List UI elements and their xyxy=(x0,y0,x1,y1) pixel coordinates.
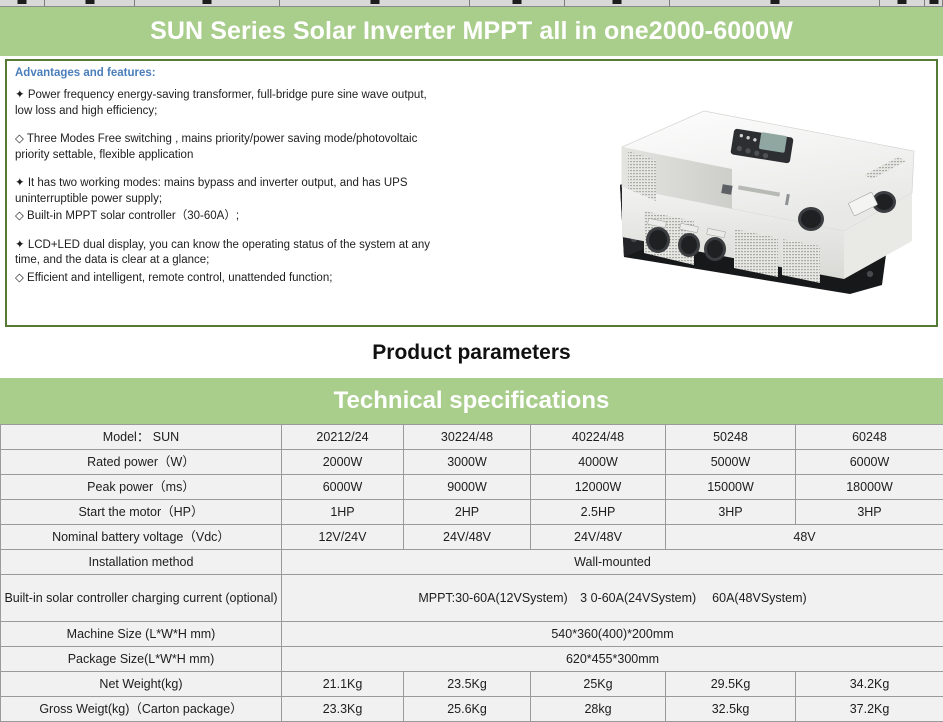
advantages-heading: Advantages and features: xyxy=(15,67,435,79)
spec-cell: 3HP xyxy=(796,500,943,525)
spec-row-label: Net Weight(kg) xyxy=(1,672,282,697)
technical-specifications-banner: Technical specifications xyxy=(0,378,943,424)
advantages-list: Advantages and features: ✦ Power frequen… xyxy=(15,67,435,292)
spec-row-label: Rated power（W） xyxy=(1,450,282,475)
spec-cell: 28kg xyxy=(531,697,666,722)
spec-cell: 2.5HP xyxy=(531,500,666,525)
cutoff-table-strip xyxy=(0,0,943,7)
technical-specifications-title: Technical specifications xyxy=(334,387,610,415)
spec-cell: 2000W xyxy=(282,450,404,475)
spec-cell: 9000W xyxy=(404,475,531,500)
spec-cell: 12V/24V xyxy=(282,525,404,550)
product-title-banner: SUN Series Solar Inverter MPPT all in on… xyxy=(0,7,943,56)
feature-item-5: ✦ LCD+LED dual display, you can know the… xyxy=(15,238,435,269)
spec-cell: 20212/24 xyxy=(282,425,404,450)
cutoff-cell xyxy=(925,0,943,6)
spec-cell: 60248 xyxy=(796,425,943,450)
feature-item-1: ✦ Power frequency energy-saving transfor… xyxy=(15,88,435,119)
table-row: Built-in solar controller charging curre… xyxy=(1,575,943,622)
page-title: SUN Series Solar Inverter MPPT all in on… xyxy=(150,17,793,46)
spec-row-label: Peak power（ms） xyxy=(1,475,282,500)
spec-cell: 18000W xyxy=(796,475,943,500)
spec-cell: 25.6Kg xyxy=(404,697,531,722)
spec-row-label: Installation method xyxy=(1,550,282,575)
cutoff-cell xyxy=(470,0,565,6)
cutoff-cell xyxy=(0,0,45,6)
spec-row-label: Start the motor（HP） xyxy=(1,500,282,525)
spec-cell: MPPT:30-60A(12VSystem) 3 0-60A(24VSystem… xyxy=(282,575,943,622)
spec-cell: 23.5Kg xyxy=(404,672,531,697)
spec-row-label: Package Size(L*W*H mm) xyxy=(1,647,282,672)
spec-cell: 40224/48 xyxy=(531,425,666,450)
spec-row-label: Gross Weigt(kg)（Carton package） xyxy=(1,697,282,722)
spec-cell: 620*455*300mm xyxy=(282,647,943,672)
spec-row-label: Model： SUN xyxy=(1,425,282,450)
table-row: Peak power（ms）6000W9000W12000W15000W1800… xyxy=(1,475,943,500)
product-parameters-heading: Product parameters xyxy=(0,341,943,365)
spec-cell: 5000W xyxy=(666,450,796,475)
spec-cell: 2HP xyxy=(404,500,531,525)
spec-cell: 23.3Kg xyxy=(282,697,404,722)
cutoff-cell xyxy=(670,0,880,6)
spec-cell: 3000W xyxy=(404,450,531,475)
table-row: Start the motor（HP）1HP2HP2.5HP3HP3HP xyxy=(1,500,943,525)
feature-item-3: ✦ It has two working modes: mains bypass… xyxy=(15,176,435,207)
spec-cell: 48V xyxy=(666,525,943,550)
cutoff-cell xyxy=(135,0,280,6)
cutoff-cell xyxy=(880,0,925,6)
table-row: Installation methodWall-mounted xyxy=(1,550,943,575)
spec-cell: 4000W xyxy=(531,450,666,475)
feature-item-4: ◇ Built-in MPPT solar controller（30-60A）… xyxy=(15,209,435,225)
spec-cell: 21.1Kg xyxy=(282,672,404,697)
solar-inverter-product-photo xyxy=(582,89,932,299)
spec-cell: 25Kg xyxy=(531,672,666,697)
spec-row-label: Nominal battery voltage（Vdc） xyxy=(1,525,282,550)
spec-row-label: Machine Size (L*W*H mm) xyxy=(1,622,282,647)
features-panel: Advantages and features: ✦ Power frequen… xyxy=(5,59,938,327)
cutoff-cell xyxy=(45,0,135,6)
spec-cell: 12000W xyxy=(531,475,666,500)
spec-cell: 30224/48 xyxy=(404,425,531,450)
cutoff-cell xyxy=(280,0,470,6)
spec-cell: 540*360(400)*200mm xyxy=(282,622,943,647)
spec-cell: 32.5kg xyxy=(666,697,796,722)
cutoff-cell xyxy=(565,0,670,6)
spec-cell: 1HP xyxy=(282,500,404,525)
table-row: Package Size(L*W*H mm)620*455*300mm xyxy=(1,647,943,672)
feature-item-6: ◇ Efficient and intelligent, remote cont… xyxy=(15,271,435,287)
table-row: Machine Size (L*W*H mm)540*360(400)*200m… xyxy=(1,622,943,647)
spec-cell: 24V/48V xyxy=(404,525,531,550)
spec-cell: 37.2Kg xyxy=(796,697,943,722)
table-row: Model： SUN20212/2430224/4840224/48502486… xyxy=(1,425,943,450)
spec-cell: 3HP xyxy=(666,500,796,525)
spec-cell: 6000W xyxy=(796,450,943,475)
spec-cell: 34.2Kg xyxy=(796,672,943,697)
table-row: Rated power（W）2000W3000W4000W5000W6000W xyxy=(1,450,943,475)
spec-cell: 6000W xyxy=(282,475,404,500)
spec-cell: 24V/48V xyxy=(531,525,666,550)
specifications-table: Model： SUN20212/2430224/4840224/48502486… xyxy=(0,424,943,722)
table-row: Net Weight(kg)21.1Kg23.5Kg25Kg29.5Kg34.2… xyxy=(1,672,943,697)
table-row: Nominal battery voltage（Vdc）12V/24V24V/4… xyxy=(1,525,943,550)
spec-cell: 15000W xyxy=(666,475,796,500)
feature-item-2: ◇ Three Modes Free switching , mains pri… xyxy=(15,132,435,163)
spec-cell: Wall-mounted xyxy=(282,550,943,575)
spec-row-label: Built-in solar controller charging curre… xyxy=(1,575,282,622)
spec-cell: 50248 xyxy=(666,425,796,450)
spec-cell: 29.5Kg xyxy=(666,672,796,697)
technical-specifications-section: Technical specifications Model： SUN20212… xyxy=(0,378,943,722)
table-row: Gross Weigt(kg)（Carton package）23.3Kg25.… xyxy=(1,697,943,722)
